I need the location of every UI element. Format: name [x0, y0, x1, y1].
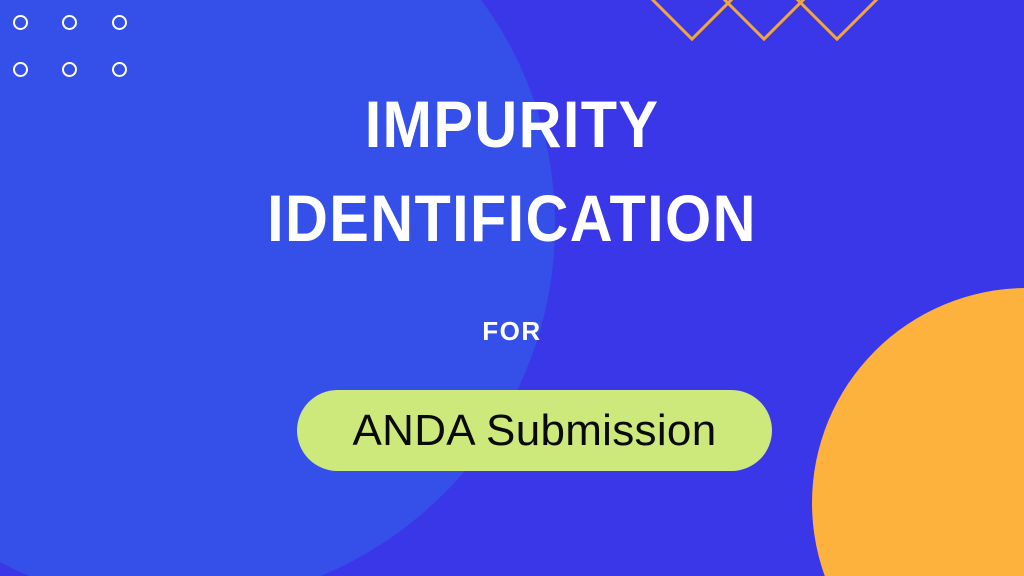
headline-line-1: IMPURITY: [51, 78, 973, 172]
headline-line-2: IDENTIFICATION: [51, 172, 973, 266]
dot-icon: [13, 15, 28, 30]
diamond-outline-row: [660, 0, 920, 64]
diamond-icon: [719, 0, 810, 41]
diamond-icon: [792, 0, 883, 41]
dot-icon: [62, 62, 77, 77]
dot-icon: [62, 15, 77, 30]
slide-headline: IMPURITY IDENTIFICATION: [51, 78, 973, 265]
title-slide: IMPURITY IDENTIFICATION FOR ANDA Submiss…: [0, 0, 1024, 576]
subject-pill-label: ANDA Submission: [353, 406, 717, 456]
dot-icon: [13, 62, 28, 77]
connector-label: FOR: [0, 316, 1024, 347]
dot-icon: [112, 62, 127, 77]
diamond-icon: [647, 0, 738, 41]
subject-pill: ANDA Submission: [297, 390, 772, 471]
dot-icon: [112, 15, 127, 30]
